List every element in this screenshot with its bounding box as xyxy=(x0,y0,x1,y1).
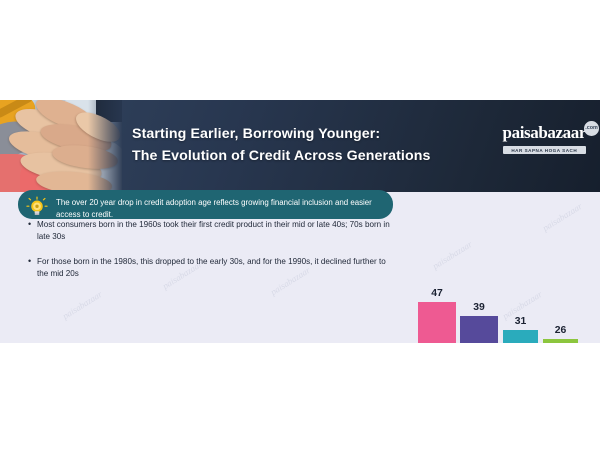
bar-chart: 47 39 31 26 1960s Born 1 xyxy=(405,296,590,343)
logo-word-text: paisabazaar xyxy=(503,123,586,142)
bar-value-label: 31 xyxy=(503,316,538,327)
header-title: Starting Earlier, Borrowing Younger: The… xyxy=(132,124,462,167)
list-item: For those born in the 1980s, this droppe… xyxy=(28,256,398,281)
bar-1960s: 47 xyxy=(418,302,456,343)
stacked-hands-photo xyxy=(0,100,122,192)
callout-text: The over 20 year drop in credit adoption… xyxy=(56,197,384,220)
paisabazaar-logo[interactable]: paisabazaar .com HAR SAPNA HOGA SACH xyxy=(503,124,586,154)
list-item: Most consumers born in the 1960s took th… xyxy=(28,219,398,244)
logo-dotcom-badge: .com xyxy=(584,121,599,136)
bar-value-label: 39 xyxy=(460,302,498,313)
logo-tagline: HAR SAPNA HOGA SACH xyxy=(503,146,586,154)
header-title-line-1: Starting Earlier, Borrowing Younger: xyxy=(132,124,462,146)
bar-1990s: 26 xyxy=(543,339,578,343)
body-content: Credit Access is Starting Earlier with E… xyxy=(0,192,600,343)
infographic-panel: Starting Earlier, Borrowing Younger: The… xyxy=(0,100,600,343)
bar-value-label: 47 xyxy=(418,288,456,299)
bullet-list: Most consumers born in the 1960s took th… xyxy=(28,219,398,292)
header-title-line-2: The Evolution of Credit Across Generatio… xyxy=(132,146,462,168)
header-banner: Starting Earlier, Borrowing Younger: The… xyxy=(0,100,600,192)
bar-1980s: 31 xyxy=(503,330,538,343)
logo-wordmark: paisabazaar .com xyxy=(503,124,586,141)
bar-value-label: 26 xyxy=(543,325,578,336)
bar-1970s: 39 xyxy=(460,316,498,343)
chart-plot-area: 47 39 31 26 xyxy=(405,296,590,343)
lightbulb-icon xyxy=(26,196,48,218)
